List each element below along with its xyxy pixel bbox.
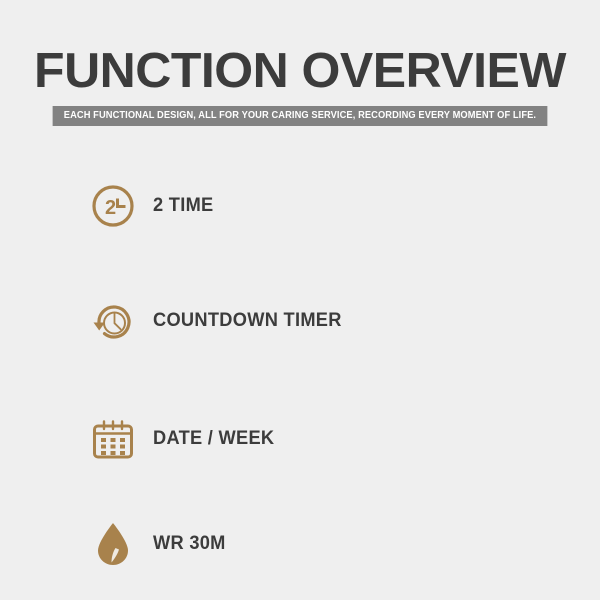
- svg-text:2: 2: [105, 197, 116, 219]
- two-time-clock-icon: 2: [90, 183, 136, 229]
- feature-item-stopwatch: STOPWATCH: [300, 150, 600, 262]
- feature-grid: 2 2 TIME: [0, 150, 600, 590]
- feature-item-12-24-hour: 12/24 12/24 HOUR: [300, 498, 600, 590]
- feature-label: DATE / WEEK: [153, 428, 274, 450]
- feature-item-wr-30m: WR 30M: [0, 498, 300, 590]
- water-drop-icon: [90, 521, 136, 567]
- feature-item-2-time: 2 2 TIME: [0, 150, 300, 262]
- feature-item-el-light: EL LIGHT: [300, 380, 600, 498]
- header: FUNCTION OVERVIEW EACH FUNCTIONAL DESIGN…: [0, 0, 600, 126]
- calendar-icon: [90, 416, 136, 462]
- subtitle-bar: EACH FUNCTIONAL DESIGN, ALL FOR YOUR CAR…: [0, 106, 600, 126]
- feature-item-countdown-timer: COUNTDOWN TIMER: [0, 262, 300, 380]
- function-overview-page: FUNCTION OVERVIEW EACH FUNCTIONAL DESIGN…: [0, 0, 600, 600]
- subtitle-text: EACH FUNCTIONAL DESIGN, ALL FOR YOUR CAR…: [53, 106, 548, 126]
- countdown-timer-icon: [90, 298, 136, 344]
- feature-label: COUNTDOWN TIMER: [153, 310, 342, 332]
- feature-label: 2 TIME: [153, 195, 214, 217]
- feature-item-alarm: ALARM: [300, 262, 600, 380]
- feature-item-date-week: DATE / WEEK: [0, 380, 300, 498]
- feature-label: WR 30M: [153, 533, 226, 555]
- page-title: FUNCTION OVERVIEW: [0, 45, 600, 97]
